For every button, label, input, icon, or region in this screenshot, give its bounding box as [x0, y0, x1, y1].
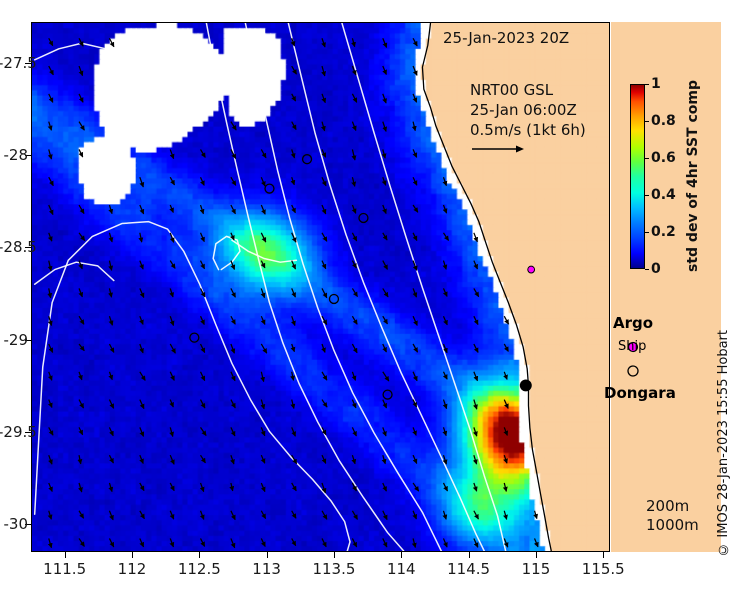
current-vector-arrow: [261, 400, 264, 409]
colorbar-tick-label: 0.2: [651, 224, 676, 240]
current-vector-arrow: [261, 538, 265, 546]
current-vector-arrow: [231, 538, 235, 547]
x-tick-mark: [603, 552, 604, 558]
bathymetry-contour: [213, 236, 240, 269]
y-tick-label: -27.5: [0, 54, 28, 72]
current-vector-arrow: [79, 372, 82, 380]
current-vector-arrow: [231, 483, 233, 491]
current-vector-arrow: [504, 344, 508, 351]
current-vector-arrow: [231, 316, 235, 324]
current-product-name: NRT00 GSL: [470, 80, 586, 100]
current-vector-arrow: [49, 261, 51, 271]
current-vector-arrow: [413, 455, 417, 463]
current-vector-arrow: [443, 427, 446, 435]
x-tick-mark: [132, 552, 133, 558]
current-vector-arrow: [474, 316, 478, 324]
ship-marker: [329, 294, 338, 303]
current-vector-arrow: [292, 483, 297, 491]
ship-marker: [265, 184, 274, 193]
current-vector-arrow: [474, 400, 477, 410]
current-vector-arrow: [140, 344, 143, 353]
current-vector-arrow: [413, 38, 417, 46]
current-vector-arrow: [322, 177, 326, 186]
current-vector-arrow: [443, 538, 447, 547]
current-vector-arrow: [352, 233, 356, 241]
current-vector-arrow: [231, 372, 235, 381]
current-vector-arrow: [79, 122, 84, 131]
bathymetry-depth-key: 200m 1000m: [646, 497, 699, 535]
current-vector-arrow: [352, 149, 355, 160]
current-vector-arrow: [109, 455, 113, 463]
current-vector-arrow: [231, 177, 236, 185]
current-vector-arrow: [383, 400, 387, 408]
current-vector-arrow: [79, 38, 83, 46]
current-vector-arrow: [201, 427, 207, 435]
current-vector-arrow: [292, 538, 296, 545]
current-vector-arrow: [352, 400, 355, 408]
current-vector-arrow: [49, 66, 54, 75]
current-vector-arrow: [201, 372, 205, 381]
current-vector-arrow: [79, 344, 84, 351]
current-vector-arrow: [261, 316, 265, 324]
current-vector-arrow: [261, 177, 265, 186]
x-tick-label: 113.5: [299, 560, 369, 578]
current-vector-arrow: [383, 205, 386, 214]
current-vector-arrow: [352, 38, 354, 46]
current-vector-arrow: [383, 344, 387, 352]
current-vector-arrow: [383, 427, 386, 436]
current-vector-arrow: [292, 261, 296, 269]
current-vector-arrow: [49, 149, 52, 159]
y-tick-label: -28: [0, 146, 28, 164]
current-vector-arrow: [201, 149, 206, 157]
current-vector-arrow: [79, 455, 81, 464]
current-vector-arrow: [49, 372, 52, 381]
current-vector-arrow: [443, 400, 446, 409]
current-vector-arrow: [443, 288, 447, 296]
colorbar-tick-mark: [645, 195, 649, 196]
ship-marker: [383, 390, 392, 399]
current-vector-arrow: [49, 205, 53, 215]
current-vector-arrow: [49, 288, 51, 297]
ship-marker: [359, 213, 368, 222]
current-vector-arrow: [79, 233, 85, 241]
current-vector-arrow: [352, 316, 357, 324]
current-vector-arrow: [109, 483, 112, 492]
current-vector-arrow: [170, 427, 173, 436]
current-vector-arrow: [109, 400, 113, 409]
current-vector-arrow: [322, 538, 326, 546]
current-vector-arrow: [292, 66, 297, 74]
current-vector-arrow: [474, 483, 477, 491]
x-tick-label: 115.5: [568, 560, 638, 578]
current-vector-arrow: [170, 288, 173, 297]
current-vector-arrow: [413, 344, 417, 352]
current-vector-arrow: [140, 372, 145, 381]
current-vector-arrow: [170, 261, 175, 269]
current-vector-arrow: [49, 427, 53, 435]
current-vector-arrow: [504, 372, 507, 380]
current-vector-arrow: [352, 511, 357, 520]
colorbar-tick-label: 1: [651, 76, 661, 92]
colorbar-tick-label: 0: [651, 261, 661, 277]
current-vector-arrow: [170, 400, 173, 407]
x-tick-label: 115: [501, 560, 571, 578]
current-vector-arrow: [79, 538, 84, 546]
x-tick-label: 112.5: [164, 560, 234, 578]
current-vector-arrow: [504, 511, 506, 520]
bathymetry-contour: [35, 222, 350, 551]
current-vector-arrow: [170, 511, 173, 519]
current-vector-arrow: [413, 122, 415, 131]
current-vector-arrow: [170, 372, 174, 381]
current-vector-arrow: [474, 288, 479, 296]
colorbar-tick-mark: [645, 121, 649, 122]
current-vector-arrow: [140, 316, 143, 324]
current-vector-arrow: [443, 233, 448, 241]
current-vector-arrow: [352, 372, 355, 381]
current-vector-arrow: [413, 372, 417, 381]
current-vector-arrow: [79, 511, 84, 519]
x-tick-label: 111.5: [30, 560, 100, 578]
current-vector-arrow: [49, 511, 52, 520]
current-vector-arrow: [413, 427, 416, 435]
current-vector-arrow: [443, 511, 446, 520]
current-vector-arrow: [383, 455, 385, 464]
bathymetry-contour: [35, 262, 114, 284]
colorbar-tick-label: 0.6: [651, 150, 676, 166]
current-vector-arrow: [231, 122, 236, 130]
current-vector-arrow: [79, 205, 84, 214]
current-vector-arrow: [352, 538, 356, 546]
current-vector-arrow: [231, 205, 235, 214]
current-vector-arrow: [504, 316, 508, 324]
current-vector-arrow: [201, 344, 205, 353]
bathymetry-contour: [232, 240, 296, 262]
current-vector-arrow: [170, 177, 174, 185]
current-vector-arrow: [109, 288, 111, 297]
current-vector-arrow: [140, 400, 144, 409]
current-vector-arrow: [383, 511, 387, 520]
current-vector-arrow: [413, 261, 417, 271]
current-vector-arrow: [383, 233, 387, 240]
current-vector-arrow: [535, 511, 537, 519]
current-vector-arrow: [413, 483, 419, 491]
current-vector-arrow: [261, 261, 265, 268]
current-vector-arrow: [49, 538, 52, 547]
current-vector-arrow: [140, 483, 144, 491]
current-vector-arrow: [383, 538, 387, 547]
depth-key-1000m: 1000m: [646, 516, 699, 535]
current-vector-arrow: [535, 538, 538, 546]
current-vector-arrow: [383, 38, 387, 47]
current-vector-arrow: [109, 538, 113, 546]
current-vector-arrow: [413, 233, 417, 241]
current-vector-arrow: [504, 427, 507, 435]
current-vector-arrow: [201, 511, 204, 520]
current-vector-arrow: [109, 344, 113, 352]
x-tick-mark: [536, 552, 537, 558]
current-vector-arrow: [49, 400, 52, 408]
current-vector-arrow: [474, 427, 477, 436]
current-vector-arrow: [140, 177, 143, 187]
current-vector-arrow: [322, 344, 325, 352]
colorbar-tick-label: 0.8: [651, 113, 676, 129]
current-vector-arrow: [383, 483, 387, 491]
current-vector-arrow: [261, 233, 265, 242]
colorbar-tick-mark: [645, 158, 649, 159]
current-vector-arrow: [201, 316, 205, 324]
current-vector-arrow: [504, 483, 506, 491]
current-vector-arrow: [322, 261, 326, 269]
current-vector-arrow: [49, 455, 52, 464]
current-vector-arrow: [261, 483, 265, 492]
current-vector-arrow: [201, 455, 206, 463]
current-vector-arrow: [140, 538, 144, 546]
current-vector-arrow: [322, 233, 327, 242]
current-vector-arrow: [261, 511, 265, 519]
ship-legend-icon: [624, 362, 642, 380]
current-vector-arrow: [231, 344, 234, 353]
current-vector-arrow: [49, 38, 53, 45]
current-vector-arrow: [49, 122, 52, 131]
y-tick-label: -30: [0, 515, 28, 533]
current-vector-arrow: [292, 177, 295, 185]
current-vector-arrow: [383, 122, 386, 132]
current-vector-arrow: [170, 205, 173, 212]
current-vector-arrow: [352, 455, 355, 464]
current-vector-arrow: [261, 205, 265, 214]
x-tick-mark: [199, 552, 200, 558]
current-vector-arrow: [109, 511, 113, 520]
current-vector-arrow: [49, 94, 53, 103]
current-vector-arrow: [413, 288, 416, 297]
current-vector-arrow: [322, 205, 326, 214]
x-tick-label: 112: [97, 560, 167, 578]
current-vector-arrow: [79, 149, 83, 157]
current-vector-arrow: [49, 233, 52, 241]
current-vector-arrow: [109, 233, 112, 242]
current-vector-arrow: [79, 288, 82, 297]
current-vector-arrow: [292, 372, 294, 381]
current-vector-arrow: [140, 233, 142, 242]
current-vector-arrow: [352, 205, 355, 213]
current-vector-arrow: [443, 177, 446, 185]
current-vector-arrow: [322, 288, 327, 297]
dongara-town-marker: [520, 379, 532, 391]
current-vector-arrow: [231, 511, 235, 520]
current-vector-arrow: [292, 344, 295, 352]
current-vector-arrow: [413, 66, 417, 75]
current-vector-arrow: [292, 288, 296, 297]
current-vector-arrow: [231, 288, 235, 297]
current-vector-arrow: [474, 455, 477, 464]
current-vector-arrow: [292, 122, 296, 130]
bathymetry-contour: [245, 23, 441, 551]
current-vector-arrow: [170, 538, 173, 546]
x-tick-mark: [65, 552, 66, 558]
current-vector-arrow: [383, 288, 388, 297]
current-vector-arrow: [413, 94, 416, 102]
current-vector-arrow: [504, 400, 508, 409]
current-vector-arrow: [413, 149, 417, 157]
ship-marker: [303, 155, 312, 164]
colorbar-tick-mark: [645, 232, 649, 233]
current-vector-arrow: [352, 288, 357, 296]
current-vector-arrow: [109, 427, 113, 435]
current-vector-arrow: [443, 372, 447, 379]
colorbar-tick-label: 0.4: [651, 187, 676, 203]
colorbar-tick-mark: [645, 269, 649, 270]
current-vector-arrow: [322, 149, 326, 157]
current-vector-arrow: [322, 400, 327, 408]
current-vector-arrow: [79, 261, 82, 269]
current-vector-arrow: [261, 344, 266, 353]
x-tick-label: 113: [232, 560, 302, 578]
current-vector-arrow: [201, 400, 205, 408]
current-vector-arrow: [49, 344, 53, 352]
current-vector-arrow: [413, 511, 416, 519]
current-vector-arrow: [413, 538, 415, 547]
current-vector-arrow: [49, 177, 54, 185]
copyright-notice: © IMOS 28-Jan-2023 15:55 Hobart: [716, 330, 731, 557]
current-vector-arrow: [474, 511, 479, 519]
current-vector-arrow: [201, 177, 205, 185]
current-vector-arrow: [109, 205, 112, 214]
x-tick-mark: [334, 552, 335, 558]
current-vector-arrow: [292, 511, 296, 519]
current-vector-arrow: [292, 316, 295, 325]
current-vector-arrow: [474, 233, 477, 242]
current-vector-arrow: [201, 233, 205, 242]
current-vector-arrow: [413, 177, 417, 185]
current-vector-arrow: [231, 427, 235, 436]
current-vector-arrow: [383, 316, 388, 324]
current-vector-arrow: [413, 205, 418, 212]
current-vector-arrow: [322, 455, 326, 463]
current-vector-arrow: [140, 427, 144, 436]
datetime-stamp: 25-Jan-2023 20Z: [443, 29, 569, 47]
colorbar-title: std dev of 4hr SST comp: [685, 82, 701, 272]
current-vector-arrow: [352, 177, 354, 186]
current-vector-arrow: [201, 288, 205, 297]
bathymetry-contour: [35, 43, 154, 137]
current-vector-arrow: [261, 427, 264, 435]
current-vector-arrow: [109, 316, 112, 325]
ship-marker: [190, 333, 199, 342]
current-vector-arrow: [201, 538, 205, 546]
current-vector-arrow: [79, 316, 84, 324]
current-vector-arrow: [443, 483, 447, 491]
x-tick-mark: [469, 552, 470, 558]
current-vector-arrow: [201, 205, 204, 214]
current-vector-arrow: [322, 94, 325, 103]
current-vector-arrow: [292, 205, 296, 213]
current-vector-arrow: [109, 38, 113, 47]
current-vector-arrow: [79, 483, 82, 492]
current-vector-arrow: [79, 427, 83, 434]
current-vector-arrow: [109, 261, 111, 271]
right-info-panel: std dev of 4hr SST comp 00.20.40.60.81: [611, 22, 721, 552]
current-vector-arrow: [292, 427, 296, 436]
current-vector-arrow: [170, 149, 173, 158]
current-vector-arrow: [170, 455, 174, 464]
current-vector-arrow: [261, 149, 266, 157]
depth-key-200m: 200m: [646, 497, 699, 516]
current-vector-arrow: [383, 372, 389, 381]
current-scale-arrow-icon: [470, 140, 530, 158]
current-vector-arrow: [79, 66, 82, 76]
current-vector-arrow: [231, 455, 234, 464]
current-vector-arrow: [383, 177, 386, 185]
current-vector-arrow: [140, 455, 143, 463]
current-vector-arrow: [383, 261, 388, 270]
current-vector-arrow: [474, 261, 478, 269]
current-vector-arrow: [109, 372, 112, 380]
x-tick-label: 114.5: [434, 560, 504, 578]
y-tick-label: -29.5: [0, 423, 28, 441]
current-vector-arrow: [170, 316, 173, 325]
current-vector-arrow: [352, 427, 356, 436]
current-product-annotation: NRT00 GSL 25-Jan 06:00Z 0.5m/s (1kt 6h): [470, 80, 586, 163]
current-vector-arrow: [292, 400, 294, 409]
current-vector-arrow: [443, 316, 447, 325]
current-vector-arrow: [49, 483, 52, 492]
argo-marker: [528, 266, 535, 273]
current-vector-arrow: [261, 288, 264, 297]
current-vector-arrow: [140, 511, 145, 519]
current-vector-arrow: [201, 483, 204, 492]
current-vector-arrow: [383, 149, 385, 158]
current-vector-arrow: [504, 455, 507, 463]
current-vector-arrow: [322, 38, 325, 47]
current-vector-arrow: [383, 94, 386, 103]
current-vector-arrow: [474, 538, 478, 547]
current-vector-arrow: [322, 66, 325, 76]
current-vector-arrow: [413, 316, 417, 325]
current-vector-arrow: [443, 261, 446, 270]
current-vector-arrow: [352, 344, 357, 353]
current-vector-arrow: [352, 122, 355, 131]
current-product-time: 25-Jan 06:00Z: [470, 100, 586, 120]
current-vector-arrow: [140, 288, 144, 297]
current-vector-arrow: [201, 261, 205, 269]
current-vector-arrow: [474, 372, 478, 381]
current-vector-arrow: [292, 149, 295, 158]
current-vector-arrow: [140, 205, 144, 214]
current-vector-arrow: [261, 372, 263, 382]
y-tick-label: -28.5: [0, 238, 28, 256]
legend-label-argo: Argo: [613, 314, 653, 332]
current-vector-arrow: [474, 344, 478, 352]
current-vector-arrow: [231, 400, 235, 408]
current-vector-arrow: [443, 205, 446, 213]
colorbar-tick-mark: [645, 84, 649, 85]
x-tick-label: 114: [366, 560, 436, 578]
current-vector-arrow: [322, 511, 327, 520]
current-vector-arrow: [352, 94, 356, 103]
current-vector-arrow: [322, 372, 327, 380]
x-tick-mark: [267, 552, 268, 558]
current-vector-arrow: [292, 94, 296, 101]
y-tick-label: -29: [0, 331, 28, 349]
current-vector-arrow: [383, 66, 387, 74]
colorbar-gradient: [630, 84, 645, 269]
x-tick-mark: [401, 552, 402, 558]
current-vector-arrow: [170, 344, 175, 353]
current-vector-arrow: [170, 483, 174, 491]
current-vector-arrow: [322, 122, 325, 131]
